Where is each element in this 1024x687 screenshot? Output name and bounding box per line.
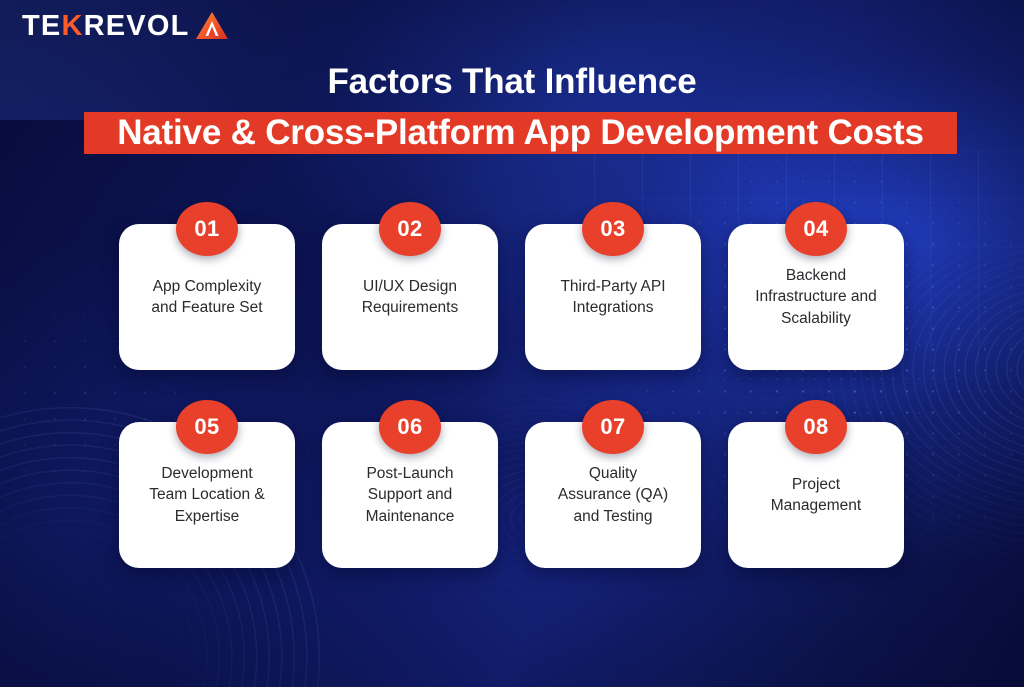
factor-card-04[interactable]: 04 Backend Infrastructure and Scalabilit… bbox=[728, 202, 904, 370]
card-number-badge: 01 bbox=[176, 202, 238, 256]
card-label: Development Team Location & Expertise bbox=[149, 463, 264, 527]
card-label: Backend Infrastructure and Scalability bbox=[755, 265, 876, 329]
triangle-delta-logo-icon bbox=[195, 10, 229, 42]
card-number: 01 bbox=[194, 218, 219, 240]
card-number-badge: 07 bbox=[582, 400, 644, 454]
card-number-badge: 04 bbox=[785, 202, 847, 256]
card-label: App Complexity and Feature Set bbox=[151, 276, 262, 319]
card-label: Third-Party API Integrations bbox=[560, 276, 665, 319]
card-number: 02 bbox=[397, 218, 422, 240]
brand-logo[interactable]: TEKREVOL bbox=[22, 10, 229, 42]
card-number: 07 bbox=[600, 416, 625, 438]
factor-card-07[interactable]: 07 Quality Assurance (QA) and Testing bbox=[525, 400, 701, 568]
card-row-1: 01 App Complexity and Feature Set 02 UI/… bbox=[119, 202, 911, 370]
card-number-badge: 08 bbox=[785, 400, 847, 454]
factor-card-03[interactable]: 03 Third-Party API Integrations bbox=[525, 202, 701, 370]
card-label: Quality Assurance (QA) and Testing bbox=[558, 463, 668, 527]
factor-card-08[interactable]: 08 Project Management bbox=[728, 400, 904, 568]
factor-card-06[interactable]: 06 Post-Launch Support and Maintenance bbox=[322, 400, 498, 568]
card-number: 08 bbox=[803, 416, 828, 438]
card-row-2: 05 Development Team Location & Expertise… bbox=[119, 400, 911, 568]
card-number: 03 bbox=[600, 218, 625, 240]
brand-wordmark: TEKREVOL bbox=[22, 12, 190, 41]
card-number: 04 bbox=[803, 218, 828, 240]
infographic-canvas: TEKREVOL Factors That Influence Native &… bbox=[0, 0, 1024, 687]
card-label: UI/UX Design Requirements bbox=[362, 276, 459, 319]
card-number: 05 bbox=[194, 416, 219, 438]
factor-card-01[interactable]: 01 App Complexity and Feature Set bbox=[119, 202, 295, 370]
card-number-badge: 02 bbox=[379, 202, 441, 256]
page-title-line2: Native & Cross-Platform App Development … bbox=[117, 113, 924, 153]
brand-name-part1: TE bbox=[22, 10, 61, 42]
factor-card-05[interactable]: 05 Development Team Location & Expertise bbox=[119, 400, 295, 568]
card-number-badge: 05 bbox=[176, 400, 238, 454]
card-number: 06 bbox=[397, 416, 422, 438]
page-title-line1: Factors That Influence bbox=[0, 62, 1024, 102]
factor-card-grid: 01 App Complexity and Feature Set 02 UI/… bbox=[119, 202, 911, 568]
brand-name-part2: REVOL bbox=[84, 10, 190, 42]
page-title-banner: Native & Cross-Platform App Development … bbox=[84, 112, 957, 154]
brand-name-accent: K bbox=[61, 10, 83, 42]
card-number-badge: 06 bbox=[379, 400, 441, 454]
card-label: Post-Launch Support and Maintenance bbox=[366, 463, 455, 527]
card-label: Project Management bbox=[771, 474, 861, 517]
factor-card-02[interactable]: 02 UI/UX Design Requirements bbox=[322, 202, 498, 370]
card-number-badge: 03 bbox=[582, 202, 644, 256]
